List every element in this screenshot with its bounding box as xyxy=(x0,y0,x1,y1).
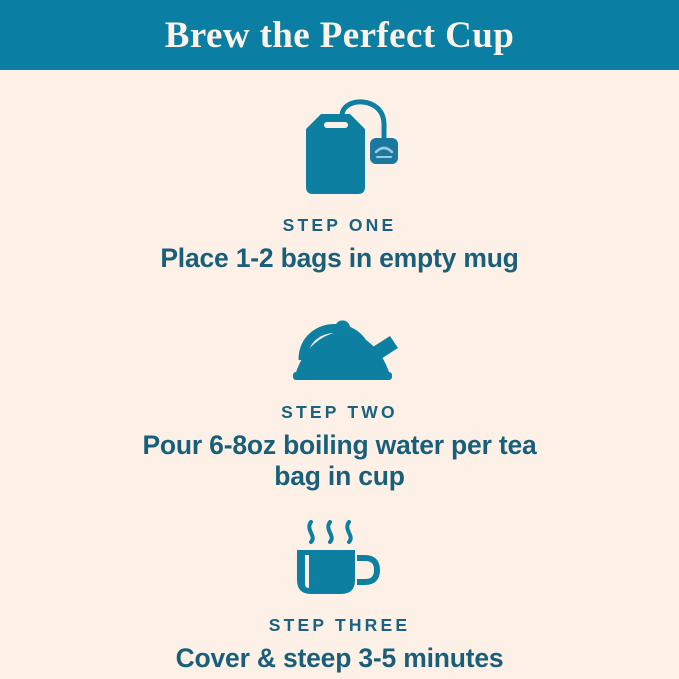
steps-list: STEP ONE Place 1-2 bags in empty mug STE… xyxy=(0,70,679,679)
steaming-mug-icon xyxy=(285,514,395,599)
step-item-three: STEP THREE Cover & steep 3-5 minutes xyxy=(0,514,679,674)
page-title: Brew the Perfect Cup xyxy=(155,17,524,54)
step-label-two: STEP TWO xyxy=(281,402,398,423)
step-item-one: STEP ONE Place 1-2 bags in empty mug xyxy=(0,88,679,274)
header-banner: Brew the Perfect Cup xyxy=(0,0,679,70)
step-text-one: Place 1-2 bags in empty mug xyxy=(160,243,518,274)
step-label-one: STEP ONE xyxy=(283,215,397,236)
step-label-three: STEP THREE xyxy=(269,615,411,636)
step-text-two: Pour 6-8oz boiling water per tea bag in … xyxy=(130,430,550,492)
brew-instructions-page: Brew the Perfect Cup STEP ONE Place 1-2 … xyxy=(0,0,679,679)
step-item-two: STEP TWO Pour 6-8oz boiling water per te… xyxy=(0,300,679,492)
tea-bag-icon xyxy=(280,94,400,199)
step-text-three: Cover & steep 3-5 minutes xyxy=(176,643,504,674)
kettle-icon xyxy=(275,300,405,386)
